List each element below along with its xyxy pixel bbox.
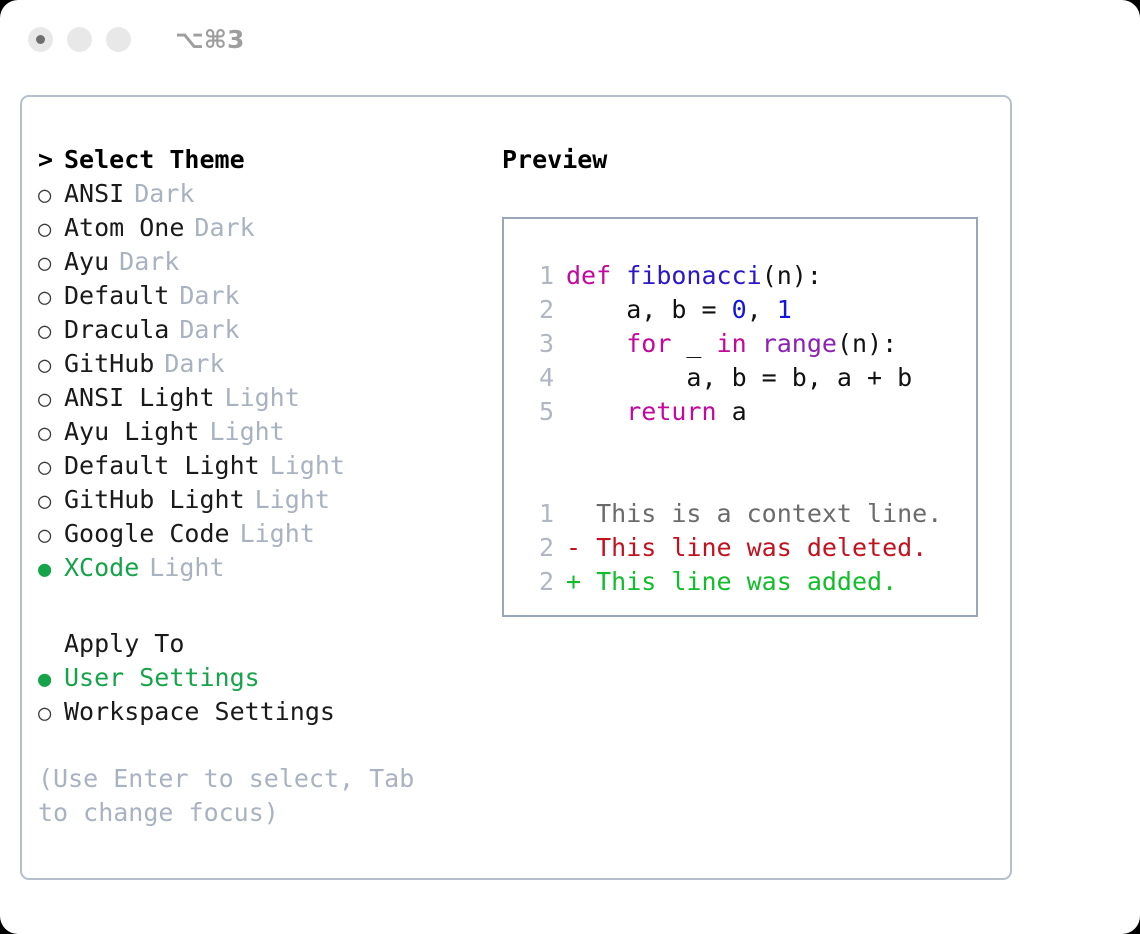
radio-unselected-icon[interactable]: ○ [38, 489, 64, 514]
line-number: 1 [524, 261, 554, 290]
app-window: ⌥⌘3 > Select Theme ○ANSIDark○Atom OneDar… [0, 0, 1140, 934]
code-token [566, 397, 626, 426]
theme-variant-badge: Light [255, 485, 330, 514]
theme-list-item[interactable]: ○GitHubDark [38, 349, 478, 383]
theme-list-item[interactable]: ○AyuDark [38, 247, 478, 281]
apply-to-option[interactable]: ●User Settings [38, 663, 478, 697]
theme-list-item[interactable]: ○Atom OneDark [38, 213, 478, 247]
radio-unselected-icon[interactable]: ○ [38, 285, 64, 310]
code-token [747, 329, 762, 358]
diff-sign: - [566, 533, 596, 562]
theme-variant-badge: Dark [134, 179, 194, 208]
theme-name: XCode [64, 553, 139, 582]
diff-text: This line was added. [596, 567, 897, 596]
theme-name: ANSI [64, 179, 124, 208]
theme-name: Dracula [64, 315, 169, 344]
code-token: _ [671, 329, 716, 358]
radio-unselected-icon[interactable]: ○ [38, 523, 64, 548]
code-token: a, b = [566, 295, 732, 324]
radio-unselected-icon[interactable]: ○ [38, 217, 64, 242]
line-number: 2 [524, 295, 554, 324]
code-text: for _ in range(n): [566, 329, 897, 358]
hint-text: (Use Enter to select, Tab to change focu… [38, 762, 458, 830]
theme-name: Default [64, 281, 169, 310]
theme-variant-badge: Light [240, 519, 315, 548]
theme-name: Ayu Light [64, 417, 199, 446]
radio-unselected-icon[interactable]: ○ [38, 353, 64, 378]
code-diff-spacer [524, 431, 976, 465]
window-dot-active-inner [36, 35, 45, 44]
theme-name: GitHub [64, 349, 154, 378]
code-token: a, b = b, a + b [566, 363, 912, 392]
theme-variant-badge: Dark [179, 281, 239, 310]
line-number: 3 [524, 329, 554, 358]
code-sample: 1def fibonacci(n):2 a, b = 0, 13 for _ i… [524, 261, 976, 431]
theme-list-item[interactable]: ○ANSIDark [38, 179, 478, 213]
theme-variant-badge: Light [225, 383, 300, 412]
theme-name: Google Code [64, 519, 230, 548]
radio-unselected-icon[interactable]: ○ [38, 387, 64, 412]
code-text: return a [566, 397, 747, 426]
code-token: 1 [777, 295, 792, 324]
preview-title: Preview [502, 145, 992, 179]
code-line: 2 a, b = 0, 1 [524, 295, 976, 329]
window-dot-2[interactable] [67, 27, 92, 52]
main-panel: > Select Theme ○ANSIDark○Atom OneDark○Ay… [20, 95, 1012, 880]
keyboard-shortcut-label: ⌥⌘3 [175, 25, 244, 54]
theme-list-item[interactable]: ○GitHub LightLight [38, 485, 478, 519]
theme-variant-badge: Light [209, 417, 284, 446]
diff-line: 2+ This line was added. [524, 567, 976, 601]
diff-text: This is a context line. [596, 499, 942, 528]
caret-icon: > [38, 145, 64, 174]
radio-unselected-icon[interactable]: ○ [38, 183, 64, 208]
window-controls [28, 27, 131, 52]
code-token: range [762, 329, 837, 358]
code-line: 3 for _ in range(n): [524, 329, 976, 363]
apply-to-option-label: Workspace Settings [64, 697, 335, 726]
code-token: 0 [732, 295, 747, 324]
code-token: (n): [762, 261, 822, 290]
select-theme-header: > Select Theme [38, 145, 478, 179]
apply-to-title: Apply To [64, 629, 184, 658]
section-spacer [38, 587, 478, 629]
theme-list: ○ANSIDark○Atom OneDark○AyuDark○DefaultDa… [38, 179, 478, 587]
theme-variant-badge: Light [149, 553, 224, 582]
apply-to-options: ●User Settings○Workspace Settings [38, 663, 478, 731]
theme-list-item[interactable]: ○Google CodeLight [38, 519, 478, 553]
theme-variant-badge: Dark [194, 213, 254, 242]
theme-name: ANSI Light [64, 383, 215, 412]
code-token: for [626, 329, 671, 358]
theme-list-item[interactable]: ○ANSI LightLight [38, 383, 478, 417]
theme-variant-badge: Dark [164, 349, 224, 378]
theme-list-item[interactable]: ●XCodeLight [38, 553, 478, 587]
radio-selected-icon[interactable]: ● [38, 557, 64, 582]
window-dot-3[interactable] [106, 27, 131, 52]
apply-to-option[interactable]: ○Workspace Settings [38, 697, 478, 731]
diff-sign: + [566, 567, 596, 596]
code-token: def [566, 261, 626, 290]
code-line: 1def fibonacci(n): [524, 261, 976, 295]
apply-to-marker-placeholder: ○ [38, 629, 64, 658]
radio-unselected-icon[interactable]: ○ [38, 701, 64, 726]
radio-unselected-icon[interactable]: ○ [38, 455, 64, 480]
code-token: (n): [837, 329, 897, 358]
code-line: 5 return a [524, 397, 976, 431]
select-theme-title: Select Theme [64, 145, 245, 174]
line-number: 1 [524, 499, 554, 528]
theme-list-item[interactable]: ○DefaultDark [38, 281, 478, 315]
diff-line: 1 This is a context line. [524, 499, 976, 533]
line-number: 2 [524, 533, 554, 562]
window-dot-active[interactable] [28, 27, 53, 52]
code-text: a, b = b, a + b [566, 363, 912, 392]
preview-box: 1def fibonacci(n):2 a, b = 0, 13 for _ i… [502, 217, 978, 617]
diff-sign [566, 499, 596, 528]
code-token: fibonacci [626, 261, 761, 290]
line-number: 5 [524, 397, 554, 426]
theme-variant-badge: Dark [119, 247, 179, 276]
theme-variant-badge: Light [270, 451, 345, 480]
code-text: def fibonacci(n): [566, 261, 822, 290]
theme-list-item[interactable]: ○Ayu LightLight [38, 417, 478, 451]
theme-list-item[interactable]: ○DraculaDark [38, 315, 478, 349]
diff-line: 2- This line was deleted. [524, 533, 976, 567]
theme-list-item[interactable]: ○Default LightLight [38, 451, 478, 485]
theme-name: GitHub Light [64, 485, 245, 514]
line-number: 4 [524, 363, 554, 392]
preview-column: Preview 1def fibonacci(n):2 a, b = 0, 13… [502, 145, 992, 617]
theme-selector-column: > Select Theme ○ANSIDark○Atom OneDark○Ay… [38, 145, 478, 731]
code-token: return [626, 397, 716, 426]
radio-unselected-icon[interactable]: ○ [38, 421, 64, 446]
radio-unselected-icon[interactable]: ○ [38, 251, 64, 276]
code-token [566, 329, 626, 358]
apply-to-header: ○ Apply To [38, 629, 478, 663]
theme-name: Default Light [64, 451, 260, 480]
radio-selected-icon[interactable]: ● [38, 667, 64, 692]
theme-variant-badge: Dark [179, 315, 239, 344]
title-bar: ⌥⌘3 [0, 0, 1140, 78]
code-text: a, b = 0, 1 [566, 295, 792, 324]
code-token: in [717, 329, 747, 358]
line-number: 2 [524, 567, 554, 596]
code-line: 4 a, b = b, a + b [524, 363, 976, 397]
theme-name: Atom One [64, 213, 184, 242]
code-token: a [717, 397, 747, 426]
theme-name: Ayu [64, 247, 109, 276]
apply-to-option-label: User Settings [64, 663, 260, 692]
code-token: , [747, 295, 777, 324]
code-diff-spacer-2 [524, 465, 976, 499]
radio-unselected-icon[interactable]: ○ [38, 319, 64, 344]
diff-sample: 1 This is a context line.2- This line wa… [524, 499, 976, 601]
diff-text: This line was deleted. [596, 533, 927, 562]
